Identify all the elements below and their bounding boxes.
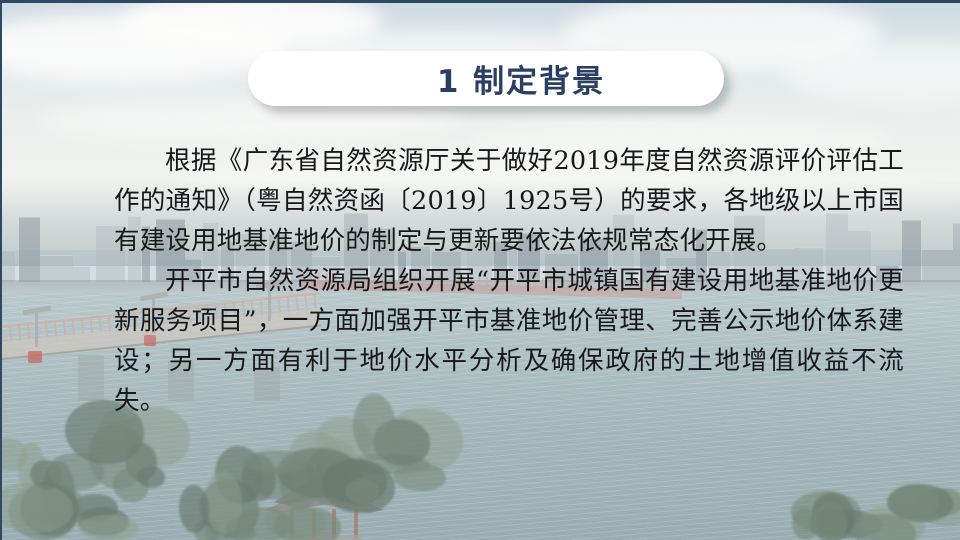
slide-canvas: 1 制定背景 根据《广东省自然资源厅关于做好2019年度自然资源评价评估工作的通… — [0, 0, 960, 540]
paragraph-1: 根据《广东省自然资源厅关于做好2019年度自然资源评价评估工作的通知》（粤自然资… — [114, 141, 904, 261]
section-title-pill: 1 制定背景 — [248, 51, 724, 106]
page-title: 1 制定背景 — [367, 56, 605, 101]
body-text-block: 根据《广东省自然资源厅关于做好2019年度自然资源评价评估工作的通知》（粤自然资… — [114, 141, 904, 421]
paragraph-2: 开平市自然资源局组织开展“开平市城镇国有建设用地基准地价更新服务项目”，一方面加… — [114, 261, 904, 421]
